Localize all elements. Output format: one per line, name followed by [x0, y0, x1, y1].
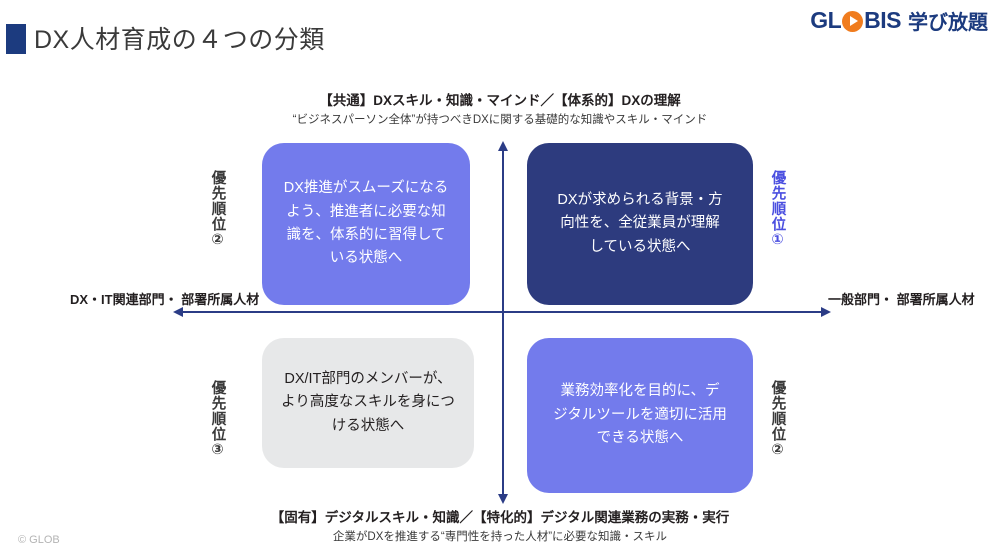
priority-label-top-right: 優先順位①: [768, 170, 787, 249]
axis-caption-bottom-heading: 【固有】デジタルスキル・知識／【特化的】デジタル関連業務の実務・実行: [190, 509, 810, 527]
quadrant-top-right[interactable]: DXが求められる背景・方 向性を、全従業員が理解 している状態へ: [527, 143, 753, 305]
quadrant-top-right-text: DXが求められる背景・方 向性を、全従業員が理解 している状態へ: [557, 189, 722, 259]
priority-label-bottom-right: 優先順位②: [768, 380, 787, 459]
priority-label-top-left: 優先順位②: [208, 170, 227, 249]
page-title: DX人材育成の４つの分類: [34, 20, 325, 56]
quadrant-bottom-left-text: DX/IT部門のメンバーが、 より高度なスキルを身につ ける状態へ: [281, 368, 455, 438]
slide-header: DX人材育成の４つの分類 GL BIS 学び放題: [0, 0, 1000, 68]
quadrant-top-left-text: DX推進がスムーズになる よう、推進者に必要な知 識を、体系的に習得して いる状…: [284, 177, 448, 271]
axis-caption-bottom: 【固有】デジタルスキル・知識／【特化的】デジタル関連業務の実務・実行 企業がDX…: [190, 509, 810, 545]
axis-label-left: DX・IT関連部門・ 部署所属人材: [70, 291, 180, 310]
play-circle-icon: [842, 11, 863, 32]
priority-label-bottom-left: 優先順位③: [208, 380, 227, 459]
brand-subtitle: 学び放題: [908, 6, 988, 35]
quadrant-bottom-right-text: 業務効率化を目的に、デ ジタルツールを適切に活用 できる状態へ: [553, 380, 727, 450]
copyright-notice: © GLOB: [18, 534, 60, 546]
quadrant-top-left[interactable]: DX推進がスムーズになる よう、推進者に必要な知 識を、体系的に習得して いる状…: [262, 143, 470, 305]
quadrant-bottom-right[interactable]: 業務効率化を目的に、デ ジタルツールを適切に活用 できる状態へ: [527, 338, 753, 493]
axis-caption-bottom-subtext: 企業がDXを推進する“専門性を持った人材”に必要な知識・スキル: [190, 529, 810, 545]
vertical-axis: [502, 150, 504, 495]
axis-caption-top: 【共通】DXスキル・知識・マインド／【体系的】DXの理解 “ビジネスパーソン全体…: [190, 92, 810, 128]
quadrant-bottom-left[interactable]: DX/IT部門のメンバーが、 より高度なスキルを身につ ける状態へ: [262, 338, 474, 468]
globis-logo: GL BIS 学び放題: [810, 6, 988, 34]
title-accent-bar: [6, 24, 26, 54]
axis-caption-top-heading: 【共通】DXスキル・知識・マインド／【体系的】DXの理解: [190, 92, 810, 110]
brand-name-head: GL: [810, 7, 841, 34]
horizontal-axis: [182, 311, 822, 313]
axis-caption-top-subtext: “ビジネスパーソン全体”が持つべきDXに関する基礎的な知識やスキル・マインド: [190, 112, 810, 128]
brand-wordmark: GL BIS: [810, 7, 901, 34]
axis-label-right: 一般部門・ 部署所属人材: [828, 291, 938, 310]
brand-name-tail: BIS: [864, 7, 901, 34]
